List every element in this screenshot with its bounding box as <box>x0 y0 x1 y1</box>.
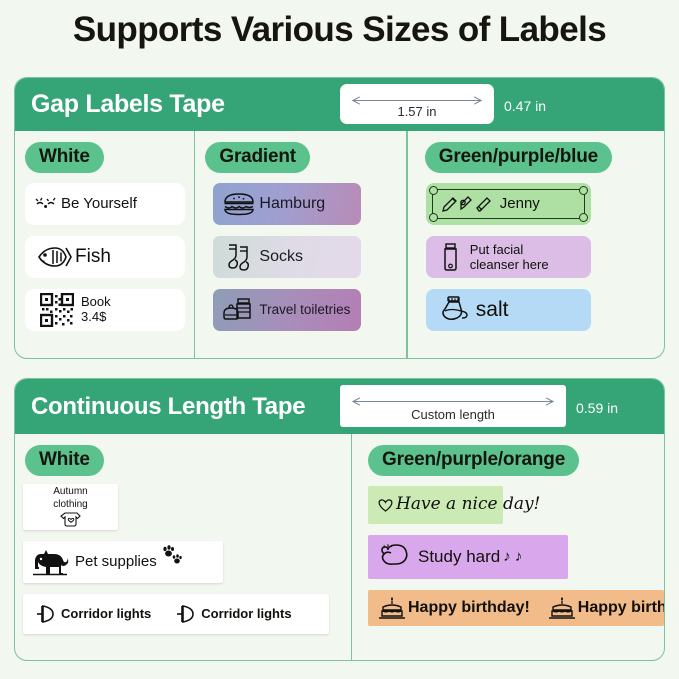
label-text-autumn-clothing: Autumn clothing <box>53 486 87 511</box>
column-colors-gap: Green/purple/blue <box>408 131 664 358</box>
heart-icon <box>374 497 396 513</box>
label-text-happy-birthday-2: Happy birth <box>578 599 665 617</box>
toiletries-icon <box>219 296 259 324</box>
column-colors-continuous: Green/purple/orange Have a nice day! <box>352 434 664 660</box>
section-gap-labels-tape: Gap Labels Tape 1.57 in 0.47 in White <box>14 77 665 359</box>
measure-label-continuous: Custom length <box>411 407 495 427</box>
label-text-travel: Travel toiletries <box>259 302 350 317</box>
label-list-colors-continuous: Have a nice day! Study hard ♪ <box>368 486 664 626</box>
socks-icon <box>219 242 259 272</box>
label-salt[interactable]: salt <box>426 289 591 331</box>
label-have-a-nice-day[interactable]: Have a nice day! <box>368 486 503 524</box>
label-socks[interactable]: Socks <box>213 236 361 278</box>
measure-chip-gap: 1.57 in <box>340 84 494 124</box>
column-white-continuous: White Autumn clothing <box>15 434 351 660</box>
label-text-pet-supplies: Pet supplies <box>75 554 157 571</box>
label-autumn-clothing[interactable]: Autumn clothing <box>23 484 118 530</box>
label-fish[interactable]: Fish <box>25 236 185 278</box>
column-white-gap: White Be Yourself <box>15 131 194 358</box>
column-pill-green-purple-blue: Green/purple/blue <box>425 142 612 173</box>
label-facial-cleanser[interactable]: Put facial cleanser here <box>426 236 591 278</box>
label-jenny[interactable]: Jenny <box>426 183 591 225</box>
section-title-gap: Gap Labels Tape <box>31 90 225 119</box>
poster-root: Supports Various Sizes of Labels Gap Lab… <box>0 0 679 679</box>
label-be-yourself[interactable]: Be Yourself <box>25 183 185 225</box>
section-continuous-length-tape: Continuous Length Tape Custom length 0.5… <box>14 378 665 661</box>
sparkle-face-icon <box>33 195 61 213</box>
measure-label-gap: 1.57 in <box>397 104 436 124</box>
label-pet-supplies[interactable]: Pet supplies <box>23 541 223 583</box>
screw-icon <box>579 213 588 222</box>
wall-lamp-icon <box>173 603 201 625</box>
label-text-socks: Socks <box>259 248 303 266</box>
section-body-gap: White Be Yourself <box>15 131 664 358</box>
cake-icon <box>546 595 578 621</box>
section-header-gap: Gap Labels Tape 1.57 in 0.47 in <box>15 78 664 131</box>
label-text-salt: salt <box>476 298 509 322</box>
label-text-corridor-lights-2: Corridor lights <box>201 607 291 622</box>
paw-prints-icon <box>157 545 185 567</box>
page-title: Supports Various Sizes of Labels <box>0 10 679 50</box>
salt-shaker-icon <box>432 295 476 325</box>
label-text-be-yourself: Be Yourself <box>61 196 137 213</box>
label-book[interactable]: Book 3.4$ <box>25 289 185 331</box>
cake-icon <box>376 595 408 621</box>
baby-onesie-heart-icon <box>60 511 82 528</box>
label-happy-birthday[interactable]: Happy birthday! Happy birth <box>368 590 664 626</box>
double-arrow-icon <box>348 397 558 406</box>
label-list-white-gap: Be Yourself Fish <box>25 183 194 331</box>
section-body-continuous: White Autumn clothing <box>15 434 664 660</box>
label-list-colors: Jenny Put facial cleanser here <box>426 183 664 331</box>
double-arrow-icon <box>348 96 486 105</box>
label-study-hard[interactable]: Study hard ♪ ♪ <box>368 535 568 579</box>
label-list-gradient: Hamburg Socks <box>213 183 406 331</box>
label-text-corridor-lights-1: Corridor lights <box>61 607 151 622</box>
fish-icon <box>33 244 75 270</box>
label-text-hamburg: Hamburg <box>259 195 325 213</box>
muscle-arm-icon <box>376 542 418 572</box>
column-gradient-gap: Gradient <box>195 131 406 358</box>
measure-chip-continuous: Custom length <box>340 385 566 427</box>
screw-icon <box>579 186 588 195</box>
dimension-label-gap: 0.47 in <box>504 98 546 114</box>
hamburger-icon <box>219 191 259 217</box>
wall-lamp-icon <box>33 603 61 625</box>
label-text-jenny: Jenny <box>500 196 540 213</box>
label-list-white-continuous: Autumn clothing <box>23 484 351 634</box>
dog-icon <box>29 546 75 578</box>
label-travel-toiletries[interactable]: Travel toiletries <box>213 289 361 331</box>
label-text-study-hard-notes: ♪ ♪ <box>503 549 522 566</box>
section-header-continuous: Continuous Length Tape Custom length 0.5… <box>15 379 664 434</box>
label-text-fish: Fish <box>75 246 111 267</box>
column-pill-gradient: Gradient <box>205 142 310 173</box>
label-text-study-hard: Study hard <box>418 547 500 566</box>
label-text-facial-cleanser: Put facial cleanser here <box>470 242 549 273</box>
label-hamburg[interactable]: Hamburg <box>213 183 361 225</box>
stationery-icon <box>438 193 500 215</box>
section-title-continuous: Continuous Length Tape <box>31 393 305 421</box>
cleanser-tube-icon <box>432 242 470 272</box>
column-pill-white: White <box>25 142 104 173</box>
qr-code-icon <box>33 293 81 327</box>
label-text-happy-birthday-1: Happy birthday! <box>408 599 530 617</box>
column-pill-white-continuous: White <box>25 445 104 476</box>
label-text-book: Book 3.4$ <box>81 295 111 324</box>
dimension-label-continuous: 0.59 in <box>576 400 618 416</box>
screw-icon <box>429 186 438 195</box>
column-pill-green-purple-orange: Green/purple/orange <box>368 445 579 476</box>
label-corridor-lights[interactable]: Corridor lights Corridor lights <box>23 594 329 634</box>
screw-icon <box>429 213 438 222</box>
label-text-have-a-nice-day: Have a nice day! <box>396 495 540 514</box>
